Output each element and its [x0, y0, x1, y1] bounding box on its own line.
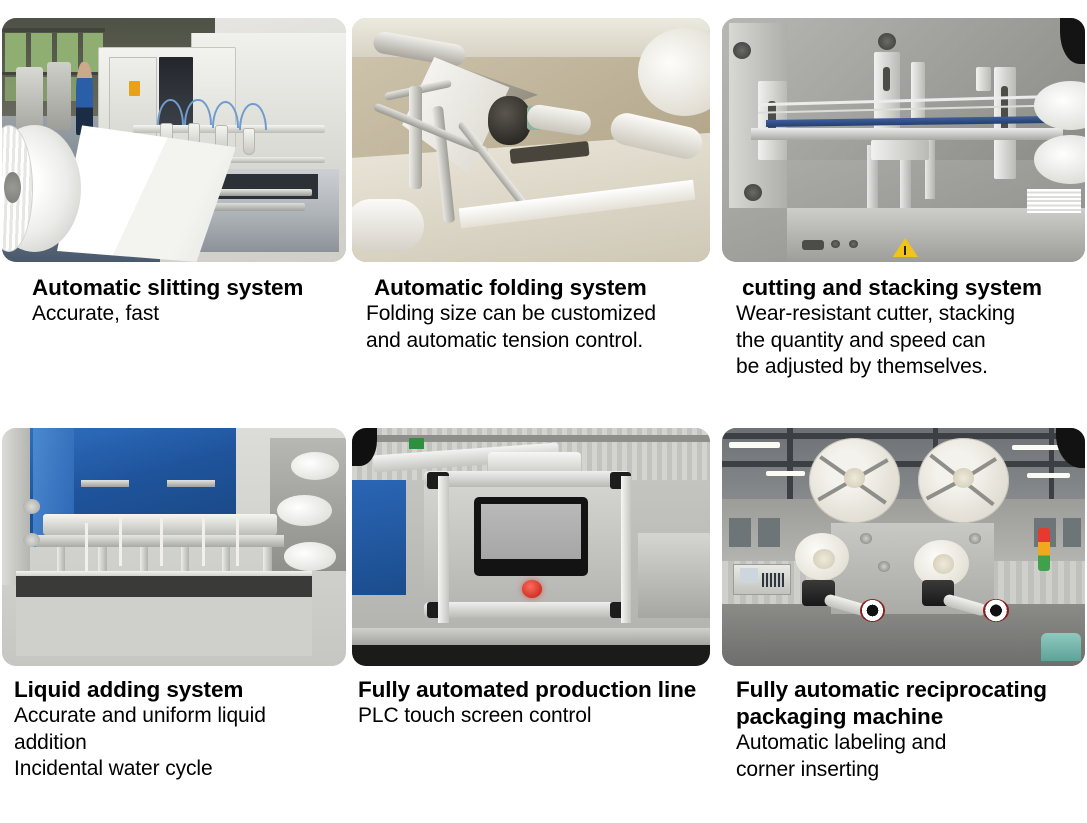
card-title: cutting and stacking system [722, 274, 1085, 301]
card-title: Liquid adding system [2, 676, 346, 703]
caption-liquid-adding-system: Liquid adding system Accurate and unifor… [2, 676, 346, 783]
card-title: Automatic folding system [352, 274, 710, 301]
signal-tower-light [1038, 528, 1050, 571]
caption-fully-automatic-reciprocating-packaging-machine: Fully automatic reciprocating packaging … [722, 676, 1085, 783]
card-title: Fully automatic reciprocating packaging … [722, 676, 1085, 730]
card-body: Folding size can be customized and autom… [352, 301, 710, 354]
photo-fully-automatic-reciprocating-packaging-machine [722, 428, 1085, 666]
feature-card-liquid-adding-system: Liquid adding system Accurate and unifor… [2, 418, 346, 823]
feature-card-fully-automated-production-line: Fully automated production line PLC touc… [352, 418, 710, 823]
card-body: PLC touch screen control [352, 703, 710, 730]
feature-card-cutting-and-stacking-system: cutting and stacking system Wear-resista… [722, 0, 1085, 420]
feature-card-automatic-folding-system: Automatic folding system Folding size ca… [352, 0, 710, 420]
feature-grid-page: Automatic slitting system Accurate, fast [0, 0, 1087, 823]
emergency-stop-button[interactable] [522, 580, 542, 598]
card-title: Automatic slitting system [2, 274, 346, 301]
caption-automatic-folding-system: Automatic folding system Folding size ca… [352, 274, 710, 354]
photo-fully-automated-production-line [352, 428, 710, 666]
caption-fully-automated-production-line: Fully automated production line PLC touc… [352, 676, 710, 730]
photo-cutting-and-stacking-system [722, 18, 1085, 262]
caption-cutting-and-stacking-system: cutting and stacking system Wear-resista… [722, 274, 1085, 381]
caption-automatic-slitting-system: Automatic slitting system Accurate, fast [2, 274, 346, 328]
feature-row-2: Liquid adding system Accurate and unifor… [0, 418, 1087, 823]
feature-row-1: Automatic slitting system Accurate, fast [0, 0, 1087, 420]
card-body: Wear-resistant cutter, stacking the quan… [722, 301, 1085, 381]
card-body: Accurate, fast [2, 301, 346, 328]
photo-liquid-adding-system [2, 428, 346, 666]
feature-card-automatic-slitting-system: Automatic slitting system Accurate, fast [2, 0, 346, 420]
photo-automatic-slitting-system [2, 18, 346, 262]
card-title: Fully automated production line [352, 676, 710, 703]
photo-automatic-folding-system [352, 18, 710, 262]
card-body: Automatic labeling and corner inserting [722, 730, 1085, 783]
card-body: Accurate and uniform liquid addition Inc… [2, 703, 346, 783]
feature-card-fully-automatic-reciprocating-packaging-machine: Fully automatic reciprocating packaging … [722, 418, 1085, 823]
